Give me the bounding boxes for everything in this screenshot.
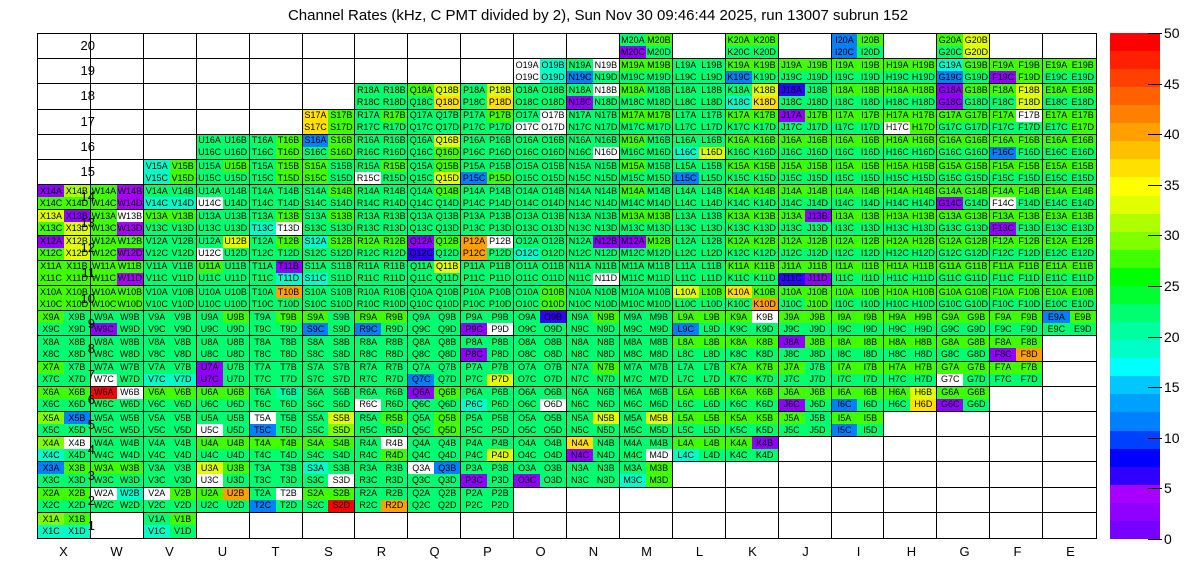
grid-cell-S2: S2AS2BS2CS2D: [303, 488, 356, 513]
channel-P9A: P9A: [461, 311, 487, 323]
channel-U11D: U11D: [223, 273, 249, 285]
channel-U13D: U13D: [223, 222, 249, 234]
channel-J6A: J6A: [779, 387, 805, 399]
grid-cell-E11: E11AE11BE11CE11D: [1043, 261, 1096, 286]
channel-K15A: K15A: [726, 160, 752, 172]
channel-K9C: K9C: [726, 323, 752, 335]
grid-cell-G4: [937, 437, 990, 462]
grid-cell-W2: W2AW2BW2CW2D: [91, 488, 144, 513]
channel-quad-M3: M3AM3BM3CM3D: [620, 462, 672, 486]
channel-I13B: I13B: [857, 210, 883, 222]
grid-cell-O15: O15AO15BO15CO15D: [514, 160, 567, 185]
channel-E15B: E15B: [1070, 160, 1096, 172]
grid-cell-O6: O6AO6BO6CO6D: [514, 387, 567, 412]
channel-quad-O10: O10AO10BO10CO10D: [514, 286, 566, 310]
channel-V3D: V3D: [170, 474, 196, 486]
channel-R8C: R8C: [355, 348, 381, 360]
channel-U14A: U14A: [197, 185, 223, 197]
channel-U13C: U13C: [197, 222, 223, 234]
grid-cell-K3: [726, 462, 779, 487]
channel-quad-T7: T7AT7BT7CT7D: [250, 362, 302, 386]
channel-Q16B: Q16B: [434, 135, 460, 147]
channel-quad-M7: M7AM7BM7CM7D: [620, 362, 672, 386]
channel-U14C: U14C: [197, 197, 223, 209]
channel-S11A: S11A: [303, 261, 329, 273]
channel-quad-L19: L19AL19BL19CL19D: [673, 59, 725, 83]
heatmap-plot-area: M20AM20BM20CM20DK20AK20BK20CK20DI20AI20B…: [37, 33, 1097, 539]
channel-I16D: I16D: [857, 147, 883, 159]
grid-cell-Q2: Q2AQ2BQ2CQ2D: [408, 488, 461, 513]
grid-cell-P15: P15AP15BP15CP15D: [461, 160, 514, 185]
colorbar-segment-8: [1110, 376, 1160, 394]
grid-cell-S6: S6AS6BS6CS6D: [303, 387, 356, 412]
channel-quad-Q9: Q9AQ9BQ9CQ9D: [408, 311, 460, 335]
channel-quad-P12: P12AP12BP12CP12D: [461, 236, 513, 260]
channel-I14D: I14D: [857, 197, 883, 209]
channel-I5A: I5A: [832, 412, 858, 424]
channel-L12A: L12A: [673, 236, 699, 248]
grid-cell-M14: M14AM14BM14CM14D: [620, 185, 673, 210]
channel-quad-U8: U8AU8BU8CU8D: [197, 336, 249, 360]
channel-G16D: G16D: [963, 147, 989, 159]
channel-quad-H9: H9AH9BH9CH9D: [884, 311, 936, 335]
channel-L16A: L16A: [673, 135, 699, 147]
channel-K20D: K20D: [752, 46, 778, 58]
colorbar-segment-19: [1110, 177, 1160, 195]
channel-S17A: S17A: [303, 110, 329, 122]
channel-O7B: O7B: [540, 362, 566, 374]
channel-quad-O15: O15AO15BO15CO15D: [514, 160, 566, 184]
channel-J15D: J15D: [805, 172, 831, 184]
grid-cell-E15: E15AE15BE15CE15D: [1043, 160, 1096, 185]
channel-quad-P17: P17AP17BP17CP17D: [461, 110, 513, 134]
channel-V10B: V10B: [170, 286, 196, 298]
channel-quad-N17: N17AN17BN17CN17D: [567, 110, 619, 134]
channel-F15A: F15A: [990, 160, 1016, 172]
channel-L7A: L7A: [673, 362, 699, 374]
channel-G13A: G13A: [937, 210, 963, 222]
channel-E16C: E16C: [1043, 147, 1069, 159]
channel-M9D: M9D: [646, 323, 672, 335]
channel-X12A: X12A: [38, 236, 64, 248]
channel-I20B: I20B: [857, 34, 883, 46]
channel-quad-O12: O12AO12BO12CO12D: [514, 236, 566, 260]
channel-P18A: P18A: [461, 84, 487, 96]
grid-cell-G3: [937, 462, 990, 487]
channel-I15B: I15B: [857, 160, 883, 172]
channel-quad-Q14: Q14AQ14BQ14CQ14D: [408, 185, 460, 209]
channel-R9C: R9C: [355, 323, 381, 335]
channel-H10A: H10A: [884, 286, 910, 298]
channel-U6A: U6A: [197, 387, 223, 399]
grid-cell-H20: [884, 34, 937, 59]
channel-I9A: I9A: [832, 311, 858, 323]
grid-cell-I3: [832, 462, 885, 487]
channel-quad-F11: F11AF11BF11CF11D: [990, 261, 1042, 285]
channel-N5A: N5A: [567, 412, 593, 424]
channel-P7A: P7A: [461, 362, 487, 374]
channel-O12C: O12C: [514, 248, 540, 260]
channel-I13C: I13C: [832, 222, 858, 234]
channel-H11D: H11D: [910, 273, 936, 285]
channel-quad-H6: H6AH6BH6CH6D: [884, 387, 936, 411]
grid-cell-R3: R3AR3BR3CR3D: [355, 462, 408, 487]
channel-I10A: I10A: [832, 286, 858, 298]
channel-G19A: G19A: [937, 59, 963, 71]
channel-Q6A: Q6A: [408, 387, 434, 399]
channel-F8C: F8C: [990, 348, 1016, 360]
grid-cell-H12: H12AH12BH12CH12D: [884, 236, 937, 261]
channel-U16D: U16D: [223, 147, 249, 159]
channel-quad-P13: P13AP13BP13CP13D: [461, 210, 513, 234]
channel-K15B: K15B: [752, 160, 778, 172]
channel-L9B: L9B: [699, 311, 725, 323]
grid-cell-F11: F11AF11BF11CF11D: [990, 261, 1043, 286]
channel-N7A: N7A: [567, 362, 593, 374]
channel-N4C: N4C: [567, 449, 593, 461]
channel-J5A: J5A: [779, 412, 805, 424]
channel-T13A: T13A: [250, 210, 276, 222]
channel-S10B: S10B: [328, 286, 354, 298]
channel-E10C: E10C: [1043, 298, 1069, 310]
channel-quad-S2: S2AS2BS2CS2D: [303, 488, 355, 512]
channel-W7D: W7D: [117, 374, 143, 386]
channel-quad-O6: O6AO6BO6CO6D: [514, 387, 566, 411]
grid-cell-O12: O12AO12BO12CO12D: [514, 236, 567, 261]
channel-I13D: I13D: [857, 222, 883, 234]
grid-cell-W20: [91, 34, 144, 59]
grid-cell-T5: T5AT5BT5CT5D: [250, 412, 303, 437]
channel-quad-G11: G11AG11BG11CG11D: [937, 261, 989, 285]
channel-M9A: M9A: [620, 311, 646, 323]
channel-quad-U6: U6AU6BU6CU6D: [197, 387, 249, 411]
channel-quad-Q7: Q7AQ7BQ7CQ7D: [408, 362, 460, 386]
channel-I11A: I11A: [832, 261, 858, 273]
channel-quad-I5: I5AI5BI5CI5D: [832, 412, 884, 436]
channel-quad-Q18: Q18AQ18BQ18CQ18D: [408, 84, 460, 108]
grid-cell-R17: R17AR17BR17CR17D: [355, 110, 408, 135]
channel-J11C: J11C: [779, 273, 805, 285]
channel-M6D: M6D: [646, 399, 672, 411]
grid-cell-G13: G13AG13BG13CG13D: [937, 210, 990, 235]
channel-K9A: K9A: [726, 311, 752, 323]
channel-G12D: G12D: [963, 248, 989, 260]
channel-L17D: L17D: [699, 122, 725, 134]
grid-cell-N16: N16AN16BN16CN16D: [567, 135, 620, 160]
grid-cell-F15: F15AF15BF15CF15D: [990, 160, 1043, 185]
channel-R11D: R11D: [381, 273, 407, 285]
channel-M14B: M14B: [646, 185, 672, 197]
grid-cell-N19: N19AN19BN19CN19D: [567, 59, 620, 84]
colorbar-segment-7: [1110, 394, 1160, 412]
channel-G18C: G18C: [937, 96, 963, 108]
channel-quad-H13: H13AH13BH13CH13D: [884, 210, 936, 234]
grid-cell-L17: L17AL17BL17CL17D: [673, 110, 726, 135]
channel-N14C: N14C: [567, 197, 593, 209]
channel-I16B: I16B: [857, 135, 883, 147]
channel-T4C: T4C: [250, 449, 276, 461]
channel-O15A: O15A: [514, 160, 540, 172]
channel-quad-I7: I7AI7BI7CI7D: [832, 362, 884, 386]
channel-quad-E17: E17AE17BE17CE17D: [1043, 110, 1096, 134]
channel-quad-G12: G12AG12BG12CG12D: [937, 236, 989, 260]
channel-P7B: P7B: [487, 362, 513, 374]
channel-I16C: I16C: [832, 147, 858, 159]
channel-S13B: S13B: [328, 210, 354, 222]
channel-X13C: X13C: [38, 222, 64, 234]
grid-cell-L11: L11AL11BL11CL11D: [673, 261, 726, 286]
channel-I17C: I17C: [832, 122, 858, 134]
channel-J9D: J9D: [805, 323, 831, 335]
channel-V15D: V15D: [170, 172, 196, 184]
channel-quad-F14: F14AF14BF14CF14D: [990, 185, 1042, 209]
grid-cell-G1: [937, 513, 990, 538]
channel-F14C: F14C: [990, 197, 1016, 209]
grid-cell-E17: E17AE17BE17CE17D: [1043, 110, 1096, 135]
channel-quad-R6: R6AR6BR6CR6D: [355, 387, 407, 411]
channel-H8C: H8C: [884, 348, 910, 360]
channel-U6D: U6D: [223, 399, 249, 411]
grid-cell-J11: J11AJ11BJ11CJ11D: [779, 261, 832, 286]
channel-O19C: O19C: [514, 71, 540, 83]
channel-quad-K6: K6AK6BK6CK6D: [726, 387, 778, 411]
channel-quad-E16: E16AE16BE16CE16D: [1043, 135, 1096, 159]
channel-M8A: M8A: [620, 336, 646, 348]
grid-cell-U20: [197, 34, 250, 59]
channel-R7B: R7B: [381, 362, 407, 374]
grid-cell-L18: L18AL18BL18CL18D: [673, 84, 726, 109]
grid-cell-O13: O13AO13BO13CO13D: [514, 210, 567, 235]
grid-cell-E2: [1043, 488, 1096, 513]
channel-H9B: H9B: [910, 311, 936, 323]
channel-O13D: O13D: [540, 222, 566, 234]
channel-I18D: I18D: [857, 96, 883, 108]
channel-P15D: P15D: [487, 172, 513, 184]
grid-cell-P11: P11AP11BP11CP11D: [461, 261, 514, 286]
channel-U12C: U12C: [197, 248, 223, 260]
channel-K20A: K20A: [726, 34, 752, 46]
channel-P4D: P4D: [487, 449, 513, 461]
grid-cell-F14: F14AF14BF14CF14D: [990, 185, 1043, 210]
channel-H12B: H12B: [910, 236, 936, 248]
channel-I19D: I19D: [857, 71, 883, 83]
channel-F14B: F14B: [1016, 185, 1042, 197]
channel-G6C: G6C: [937, 399, 963, 411]
channel-V4C: V4C: [144, 449, 170, 461]
channel-H7B: H7B: [910, 362, 936, 374]
channel-M7A: M7A: [620, 362, 646, 374]
channel-J18A: J18A: [779, 84, 805, 96]
channel-W9D: W9D: [117, 323, 143, 335]
channel-U4A: U4A: [197, 437, 223, 449]
channel-V9B: V9B: [170, 311, 196, 323]
grid-cell-V17: [144, 110, 197, 135]
channel-E18C: E18C: [1043, 96, 1069, 108]
channel-N6A: N6A: [567, 387, 593, 399]
grid-cell-I8: I8AI8BI8CI8D: [832, 336, 885, 361]
channel-quad-L8: L8AL8BL8CL8D: [673, 336, 725, 360]
channel-quad-W13: W13AW13BW13CW13D: [91, 210, 143, 234]
channel-R10D: R10D: [381, 298, 407, 310]
channel-K7C: K7C: [726, 374, 752, 386]
channel-O18C: O18C: [514, 96, 540, 108]
channel-L6D: L6D: [699, 399, 725, 411]
y-axis-label-10: 10: [65, 291, 95, 306]
channel-N5D: N5D: [593, 424, 619, 436]
channel-quad-V10: V10AV10BV10CV10D: [144, 286, 196, 310]
channel-quad-T3: T3AT3BT3CT3D: [250, 462, 302, 486]
channel-J12B: J12B: [805, 236, 831, 248]
channel-H16A: H16A: [884, 135, 910, 147]
grid-cell-U5: U5AU5BU5CU5D: [197, 412, 250, 437]
grid-cell-O18: O18AO18BO18CO18D: [514, 84, 567, 109]
channel-H9C: H9C: [884, 323, 910, 335]
channel-Q4C: Q4C: [408, 449, 434, 461]
channel-quad-K4: K4AK4BK4CK4D: [726, 437, 778, 461]
channel-K13C: K13C: [726, 222, 752, 234]
channel-R4C: R4C: [355, 449, 381, 461]
channel-V9A: V9A: [144, 311, 170, 323]
channel-R2B: R2B: [381, 488, 407, 500]
channel-N12B: N12B: [593, 236, 619, 248]
grid-cell-L20: [673, 34, 726, 59]
grid-cell-T15: T15AT15BT15CT15D: [250, 160, 303, 185]
channel-N15A: N15A: [567, 160, 593, 172]
grid-cell-R12: R12AR12BR12CR12D: [355, 236, 408, 261]
channel-H6B: H6B: [910, 387, 936, 399]
x-axis-label-P: P: [461, 544, 514, 559]
channel-M4C: M4C: [620, 449, 646, 461]
channel-quad-F16: F16AF16BF16CF16D: [990, 135, 1042, 159]
channel-R12B: R12B: [381, 236, 407, 248]
channel-M10C: M10C: [620, 298, 646, 310]
channel-F11B: F11B: [1016, 261, 1042, 273]
channel-Q15D: Q15D: [434, 172, 460, 184]
channel-E11B: E11B: [1070, 261, 1096, 273]
channel-Q18C: Q18C: [408, 96, 434, 108]
channel-X10A: X10A: [38, 286, 64, 298]
channel-O18D: O18D: [540, 96, 566, 108]
channel-X10C: X10C: [38, 298, 64, 310]
channel-V7C: V7C: [144, 374, 170, 386]
channel-V11D: V11D: [170, 273, 196, 285]
channel-E16A: E16A: [1043, 135, 1069, 147]
channel-W8B: W8B: [117, 336, 143, 348]
channel-K5D: K5D: [752, 424, 778, 436]
channel-G20D: G20D: [963, 46, 989, 58]
channel-quad-H10: H10AH10BH10CH10D: [884, 286, 936, 310]
grid-cell-V16: [144, 135, 197, 160]
grid-cell-L14: L14AL14BL14CL14D: [673, 185, 726, 210]
channel-Q7B: Q7B: [434, 362, 460, 374]
channel-K18A: K18A: [726, 84, 752, 96]
channel-S2A: S2A: [303, 488, 329, 500]
channel-quad-K5: K5AK5BK5CK5D: [726, 412, 778, 436]
channel-K15D: K15D: [752, 172, 778, 184]
channel-Q10B: Q10B: [434, 286, 460, 298]
grid-cell-I11: I11AI11BI11CI11D: [832, 261, 885, 286]
grid-cell-H8: H8AH8BH8CH8D: [884, 336, 937, 361]
channel-P4B: P4B: [487, 437, 513, 449]
channel-quad-S6: S6AS6BS6CS6D: [303, 387, 355, 411]
channel-K14B: K14B: [752, 185, 778, 197]
grid-cell-H9: H9AH9BH9CH9D: [884, 311, 937, 336]
channel-R11C: R11C: [355, 273, 381, 285]
grid-cell-E19: E19AE19BE19CE19D: [1043, 59, 1096, 84]
channel-E17D: E17D: [1070, 122, 1096, 134]
grid-cell-J12: J12AJ12BJ12CJ12D: [779, 236, 832, 261]
grid-cell-K1: [726, 513, 779, 538]
channel-J12C: J12C: [779, 248, 805, 260]
channel-N8A: N8A: [567, 336, 593, 348]
channel-V14B: V14B: [170, 185, 196, 197]
channel-O14B: O14B: [540, 185, 566, 197]
channel-J14C: J14C: [779, 197, 805, 209]
y-axis-label-6: 6: [65, 392, 95, 407]
channel-quad-U4: U4AU4BU4CU4D: [197, 437, 249, 461]
channel-M6A: M6A: [620, 387, 646, 399]
channel-E10D: E10D: [1070, 298, 1096, 310]
grid-cell-N3: N3AN3BN3CN3D: [567, 462, 620, 487]
channel-X9C: X9C: [38, 323, 64, 335]
grid-cell-O7: O7AO7BO7CO7D: [514, 362, 567, 387]
grid-cell-N7: N7AN7BN7CN7D: [567, 362, 620, 387]
channel-V6A: V6A: [144, 387, 170, 399]
channel-S9D: S9D: [328, 323, 354, 335]
x-axis-label-O: O: [514, 544, 567, 559]
channel-F19C: F19C: [990, 71, 1016, 83]
grid-cell-N2: [567, 488, 620, 513]
channel-quad-L18: L18AL18BL18CL18D: [673, 84, 725, 108]
grid-cell-R19: [355, 59, 408, 84]
channel-O8D: O8D: [540, 348, 566, 360]
channel-V12C: V12C: [144, 248, 170, 260]
colorbar-segment-9: [1110, 358, 1160, 376]
channel-quad-F7: F7AF7BF7CF7D: [990, 362, 1042, 386]
channel-quad-W2: W2AW2BW2CW2D: [91, 488, 143, 512]
channel-M13C: M13C: [620, 222, 646, 234]
grid-cell-K15: K15AK15BK15CK15D: [726, 160, 779, 185]
channel-X5A: X5A: [38, 412, 64, 424]
channel-quad-S16: S16AS16BS16CS16D: [303, 135, 355, 159]
channel-S15A: S15A: [303, 160, 329, 172]
channel-F9A: F9A: [990, 311, 1016, 323]
channel-T15B: T15B: [276, 160, 302, 172]
grid-cell-R16: R16AR16BR16CR16D: [355, 135, 408, 160]
channel-quad-G9: G9AG9BG9CG9D: [937, 311, 989, 335]
grid-cell-V13: V13AV13BV13CV13D: [144, 210, 197, 235]
grid-cell-J9: J9AJ9BJ9CJ9D: [779, 311, 832, 336]
channel-H7C: H7C: [884, 374, 910, 386]
grid-cell-W9: W9AW9BW9CW9D: [91, 311, 144, 336]
channel-T7D: T7D: [276, 374, 302, 386]
channel-quad-V5: V5AV5BV5CV5D: [144, 412, 196, 436]
x-axis-label-R: R: [355, 544, 408, 559]
channel-M11C: M11C: [620, 273, 646, 285]
grid-cell-V7: V7AV7BV7CV7D: [144, 362, 197, 387]
channel-Q11C: Q11C: [408, 273, 434, 285]
channel-O6C: O6C: [514, 399, 540, 411]
channel-U9C: U9C: [197, 323, 223, 335]
grid-cell-V4: V4AV4BV4CV4D: [144, 437, 197, 462]
channel-U12A: U12A: [197, 236, 223, 248]
x-axis-label-Q: Q: [408, 544, 461, 559]
channel-P6C: P6C: [461, 399, 487, 411]
grid-cell-S5: S5AS5BS5CS5D: [303, 412, 356, 437]
channel-X1A: X1A: [38, 513, 64, 526]
channel-N11C: N11C: [567, 273, 593, 285]
channel-U10B: U10B: [223, 286, 249, 298]
